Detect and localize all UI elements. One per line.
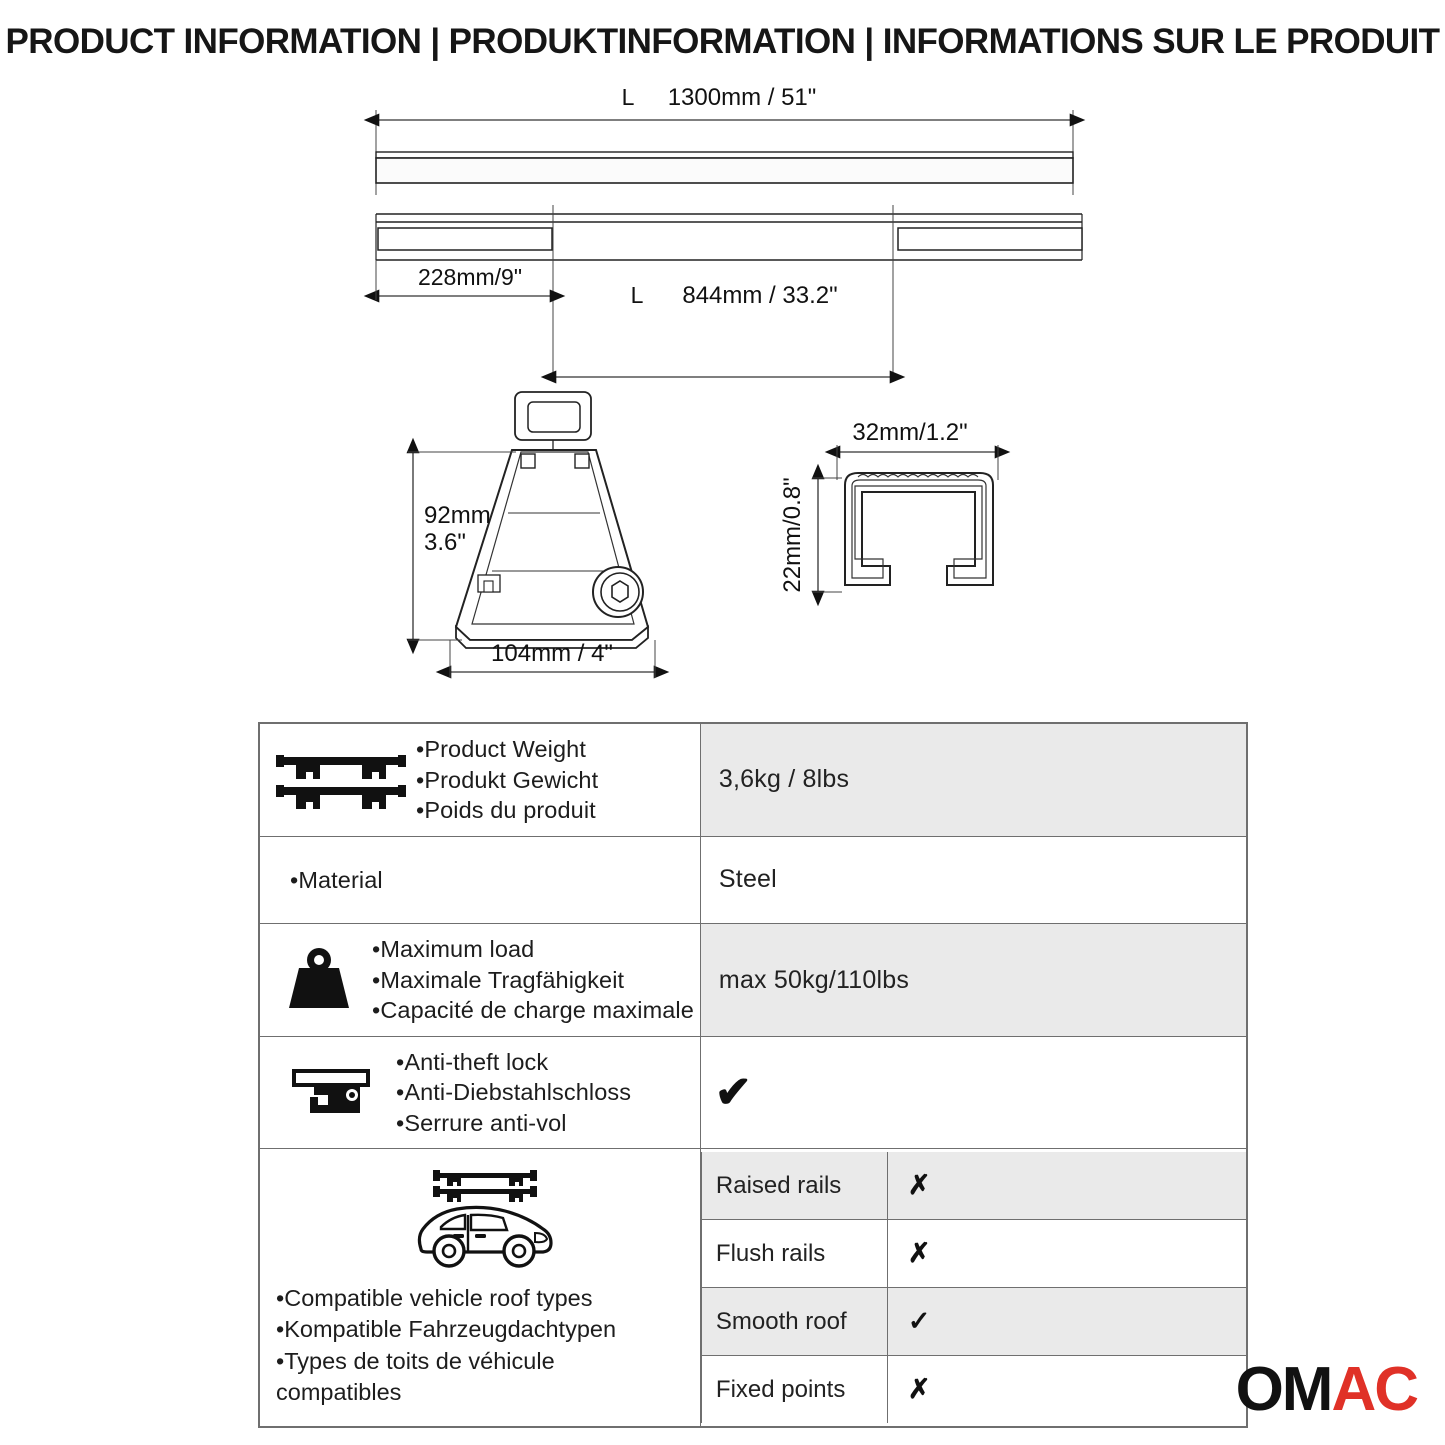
row-value-weight: 3,6kg / 8lbs	[700, 723, 1247, 836]
crossbars-icon	[276, 749, 406, 811]
profile-width-value: 32mm/1.2"	[852, 419, 967, 446]
row-label-cell: •Material	[259, 836, 700, 924]
label-line-fr-cont: compatibles	[276, 1377, 692, 1408]
foot-height-line2: 3.6"	[424, 529, 466, 556]
logo-text-ac: AC	[1331, 1355, 1417, 1424]
table-row: •Maximum load •Maximale Tragfähigkeit •C…	[259, 924, 1247, 1037]
roof-label-cell: •Compatible vehicle roof types •Kompatib…	[259, 1149, 700, 1427]
bar-length-value: 1300mm / 51"	[668, 84, 817, 111]
label-line-de: •Maximale Tragfähigkeit	[372, 965, 694, 996]
table-row-roof-types: •Compatible vehicle roof types •Kompatib…	[259, 1149, 1247, 1427]
roof-type-mark-smooth-roof: ✓	[887, 1288, 1246, 1356]
row-value-max-load: max 50kg/110lbs	[700, 924, 1247, 1037]
table-row: •Anti-theft lock •Anti-Diebstahlschloss …	[259, 1036, 1247, 1149]
table-row: •Product Weight •Produkt Gewicht •Poids …	[259, 723, 1247, 836]
row-value-material: Steel	[700, 836, 1247, 924]
label-line-en: •Maximum load	[372, 934, 694, 965]
roof-type-row: Fixed points ✗	[701, 1356, 1246, 1424]
roof-type-name: Smooth roof	[701, 1288, 887, 1356]
row-label-text: •Product Weight •Produkt Gewicht •Poids …	[416, 734, 598, 826]
row-label-cell: •Product Weight •Produkt Gewicht •Poids …	[259, 723, 700, 836]
row-label-text: •Maximum load •Maximale Tragfähigkeit •C…	[372, 934, 694, 1026]
roof-type-row: Smooth roof ✓	[701, 1288, 1246, 1356]
label-line-fr: •Poids du produit	[416, 795, 598, 826]
checkmark-icon: ✔	[701, 1071, 1246, 1115]
label-line-de: •Produkt Gewicht	[416, 765, 598, 796]
label-line-de: •Anti-Diebstahlschloss	[396, 1077, 631, 1108]
logo-text-om: OM	[1236, 1355, 1332, 1424]
row-label-text: •Anti-theft lock •Anti-Diebstahlschloss …	[396, 1047, 631, 1139]
foot-spacing-prefix: L	[631, 282, 644, 308]
roof-type-name: Raised rails	[701, 1152, 887, 1220]
row-label-text: •Material	[276, 847, 383, 914]
foot-height-line1: 92mm	[424, 502, 491, 529]
foot-spacing-value: 844mm / 33.2"	[682, 282, 837, 309]
roof-type-name: Flush rails	[701, 1220, 887, 1288]
roof-types-table: Raised rails ✗ Flush rails ✗ Smooth roof…	[701, 1152, 1246, 1423]
row-value-anti-theft: ✔	[700, 1036, 1247, 1149]
roof-label-text: •Compatible vehicle roof types •Kompatib…	[276, 1283, 692, 1407]
label-line-en: •Product Weight	[416, 734, 598, 765]
weight-icon	[276, 944, 362, 1016]
bar-length-prefix: L	[622, 84, 635, 110]
lock-icon	[276, 1063, 386, 1123]
label-line-de: •Kompatible Fahrzeugdachtypen	[276, 1314, 692, 1345]
label-line-en: •Compatible vehicle roof types	[276, 1283, 692, 1314]
end-offset-value: 228mm/9"	[418, 264, 522, 290]
table-row: •Material Steel	[259, 836, 1247, 924]
row-label-cell: •Maximum load •Maximale Tragfähigkeit •C…	[259, 924, 700, 1037]
label-line-en: •Anti-theft lock	[396, 1047, 631, 1078]
profile-height-value: 22mm/0.8"	[779, 477, 806, 592]
label-line-fr: •Types de toits de véhicule	[276, 1346, 692, 1377]
label-line-en: •Material	[290, 865, 383, 896]
car-with-crossbars-icon	[276, 1163, 692, 1283]
roof-type-row: Raised rails ✗	[701, 1152, 1246, 1220]
technical-drawing: L 1300mm / 51" 228mm/9" L 844mm / 33.2"	[0, 0, 1445, 710]
roof-type-mark-raised-rails: ✗	[887, 1152, 1246, 1220]
omac-logo: OMAC	[1236, 1359, 1417, 1421]
row-label-cell: •Anti-theft lock •Anti-Diebstahlschloss …	[259, 1036, 700, 1149]
label-line-fr: •Serrure anti-vol	[396, 1108, 631, 1139]
roof-type-mark-fixed-points: ✗	[887, 1356, 1246, 1424]
roof-type-mark-flush-rails: ✗	[887, 1220, 1246, 1288]
foot-width-value: 104mm / 4"	[491, 640, 613, 667]
specification-table: •Product Weight •Produkt Gewicht •Poids …	[258, 722, 1248, 1428]
roof-types-cell: Raised rails ✗ Flush rails ✗ Smooth roof…	[700, 1149, 1247, 1427]
label-line-fr: •Capacité de charge maximale	[372, 995, 694, 1026]
roof-type-name: Fixed points	[701, 1356, 887, 1424]
roof-type-row: Flush rails ✗	[701, 1220, 1246, 1288]
